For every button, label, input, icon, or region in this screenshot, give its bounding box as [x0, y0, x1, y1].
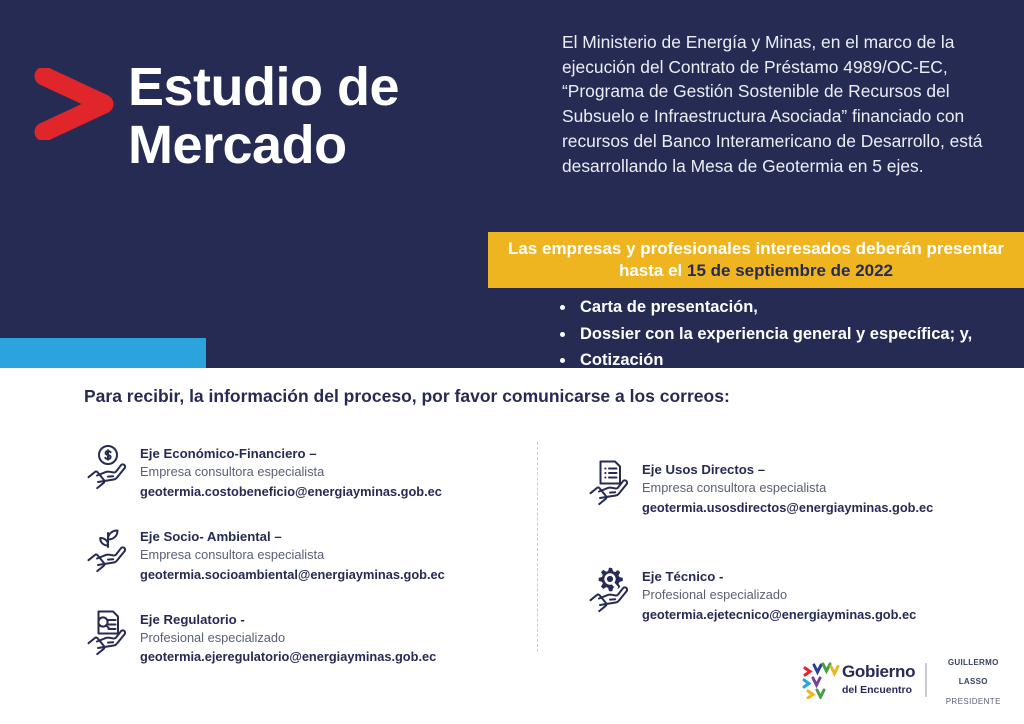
- chevron-marks-icon: [800, 661, 840, 699]
- hero-panel: Estudio de Mercado El Ministerio de Ener…: [0, 0, 1024, 368]
- hand-checklist-icon: [586, 458, 632, 506]
- requirement-label: Dossier con la experiencia general y esp…: [580, 325, 972, 343]
- list-item: Cotización: [556, 347, 1024, 374]
- contact-email[interactable]: geotermia.socioambiental@energiayminas.g…: [140, 567, 445, 582]
- contact-text: Eje Económico-Financiero – Empresa consu…: [140, 442, 442, 501]
- contact-subtitle: Empresa consultora especialista: [642, 480, 826, 495]
- president-role: PRESIDENTE: [946, 697, 1001, 706]
- requirements-list: Carta de presentación, Dossier con la ex…: [556, 294, 1024, 374]
- logo-line-1: Gobierno: [842, 662, 915, 681]
- contact-email[interactable]: geotermia.ejeregulatorio@energiayminas.g…: [140, 649, 436, 664]
- requirement-label: Carta de presentación,: [580, 298, 758, 316]
- hero-paragraph: El Ministerio de Energía y Minas, en el …: [562, 30, 1014, 178]
- contact-item-economico-financiero: Eje Económico-Financiero – Empresa consu…: [84, 442, 514, 501]
- page-title: Estudio de Mercado: [128, 58, 399, 175]
- deadline-banner-text: Las empresas y profesionales interesados…: [488, 238, 1024, 282]
- footer: Gobierno del Encuentro GUILLERMO LASSO P…: [800, 652, 1010, 708]
- deadline-date: 15 de septiembre de 2022: [687, 261, 893, 280]
- logo-line-2: del Encuentro: [842, 684, 912, 696]
- contacts-heading: Para recibir, la información del proceso…: [84, 386, 730, 407]
- deadline-banner: Las empresas y profesionales interesados…: [488, 232, 1024, 288]
- hand-plant-leaf-icon: [84, 525, 130, 573]
- contact-title: Eje Socio- Ambiental –: [140, 529, 282, 544]
- hand-document-magnifier-icon: [84, 608, 130, 656]
- contact-title: Eje Regulatorio -: [140, 612, 245, 627]
- contact-email[interactable]: geotermia.ejetecnico@energiayminas.gob.e…: [642, 607, 916, 622]
- contact-subtitle: Profesional especializado: [642, 587, 787, 602]
- contacts-column-right: Eje Usos Directos – Empresa consultora e…: [586, 458, 1006, 648]
- requirement-label: Cotización: [580, 351, 663, 369]
- contact-email[interactable]: geotermia.costobeneficio@energiayminas.g…: [140, 484, 442, 499]
- contact-subtitle: Empresa consultora especialista: [140, 464, 324, 479]
- contact-item-socio-ambiental: Eje Socio- Ambiental – Empresa consultor…: [84, 525, 514, 584]
- contact-title: Eje Económico-Financiero –: [140, 446, 317, 461]
- contact-title: Eje Técnico -: [642, 569, 723, 584]
- column-divider: [537, 442, 538, 652]
- contact-item-usos-directos: Eje Usos Directos – Empresa consultora e…: [586, 458, 1006, 517]
- contact-text: Eje Regulatorio - Profesional especializ…: [140, 608, 436, 667]
- accent-bar: [0, 338, 206, 368]
- contact-text: Eje Usos Directos – Empresa consultora e…: [642, 458, 933, 517]
- contact-subtitle: Empresa consultora especialista: [140, 547, 324, 562]
- contact-item-tecnico: Eje Técnico - Profesional especializado …: [586, 565, 1006, 624]
- contact-text: Eje Socio- Ambiental – Empresa consultor…: [140, 525, 445, 584]
- president-block: GUILLERMO LASSO PRESIDENTE: [937, 651, 1011, 709]
- list-item: Carta de presentación,: [556, 294, 1024, 321]
- list-item: Dossier con la experiencia general y esp…: [556, 321, 1024, 348]
- hand-dollar-coin-icon: [84, 442, 130, 490]
- contact-item-regulatorio: Eje Regulatorio - Profesional especializ…: [84, 608, 514, 667]
- contact-subtitle: Profesional especializado: [140, 630, 285, 645]
- hand-gear-wrench-icon: [586, 565, 632, 613]
- chevron-right-icon: [34, 68, 118, 140]
- contact-text: Eje Técnico - Profesional especializado …: [642, 565, 916, 624]
- contact-title: Eje Usos Directos –: [642, 462, 765, 477]
- contact-email[interactable]: geotermia.usosdirectos@energiayminas.gob…: [642, 500, 933, 515]
- footer-divider: [925, 663, 926, 697]
- contacts-column-left: Eje Económico-Financiero – Empresa consu…: [84, 442, 514, 691]
- gobierno-del-encuentro-logo: Gobierno del Encuentro: [800, 661, 915, 699]
- gobierno-wordmark: Gobierno del Encuentro: [842, 663, 915, 697]
- president-name: GUILLERMO LASSO: [948, 658, 999, 686]
